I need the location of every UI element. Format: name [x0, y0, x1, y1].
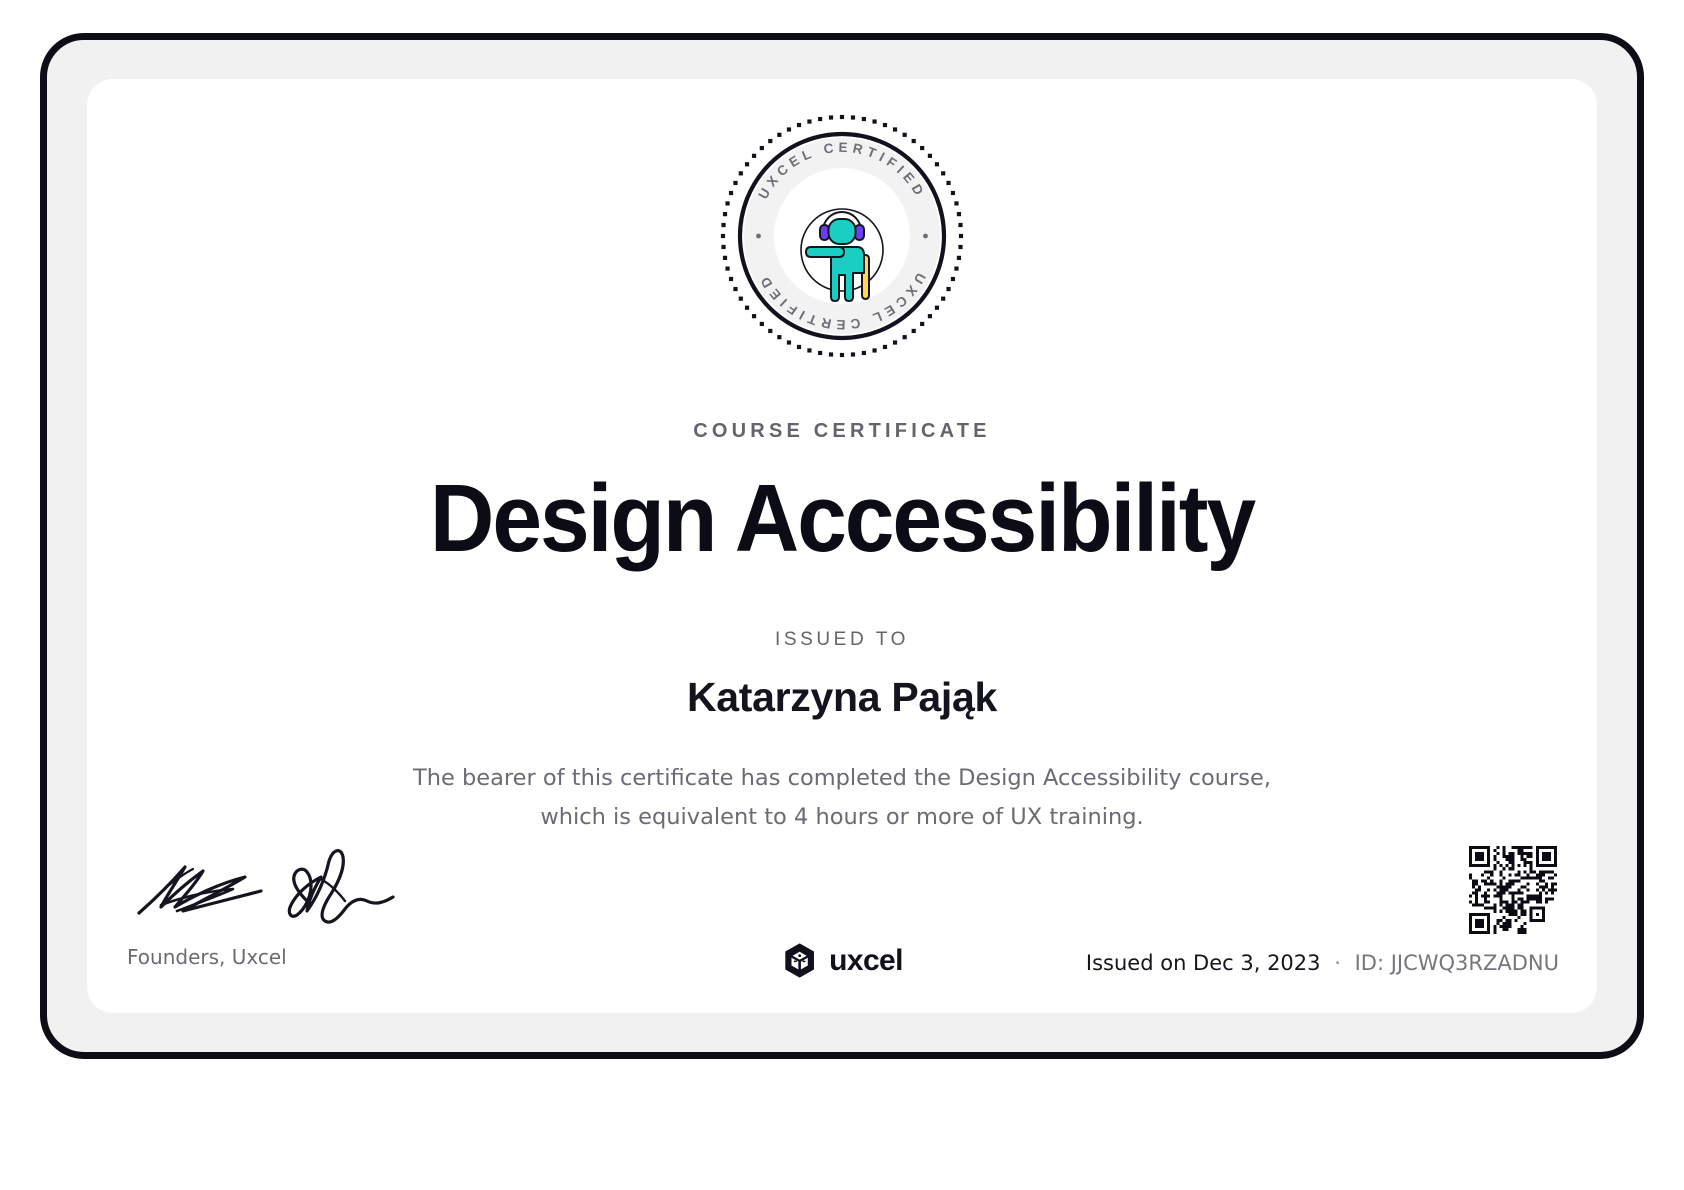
- issued-on-date: Issued on Dec 3, 2023: [1086, 951, 1321, 975]
- description-line-2: which is equivalent to 4 hours or more o…: [87, 798, 1597, 837]
- description-line-1: The bearer of this certificate has compl…: [87, 759, 1597, 798]
- course-title: Design Accessibility: [140, 469, 1544, 570]
- uxcel-certified-seal: UXCEL CERTIFIED UXCEL CERTIFIED: [711, 105, 973, 367]
- founders-signature-image: [125, 839, 425, 931]
- certificate-id: ID: JJCWQ3RZADNU: [1355, 951, 1559, 975]
- qr-code-image: [1469, 846, 1557, 934]
- seal-bullet-left: [756, 234, 761, 239]
- uxcel-brand: uxcel: [781, 942, 903, 979]
- certificate-card: UXCEL CERTIFIED UXCEL CERTIFIED: [87, 79, 1597, 1013]
- signature-label: Founders, Uxcel: [127, 945, 455, 969]
- uxcel-wordmark: uxcel: [829, 944, 903, 978]
- signature-block: Founders, Uxcel: [125, 839, 455, 969]
- seal-bullet-right: [923, 234, 928, 239]
- issued-to-label: ISSUED TO: [87, 629, 1597, 651]
- meta-separator: ·: [1327, 951, 1348, 975]
- certificate-description: The bearer of this certificate has compl…: [87, 759, 1597, 836]
- certificate-page: UXCEL CERTIFIED UXCEL CERTIFIED: [0, 0, 1684, 1190]
- seal-graphic: UXCEL CERTIFIED UXCEL CERTIFIED: [711, 105, 973, 367]
- verification-qr-code[interactable]: [1469, 846, 1557, 934]
- recipient-name: Katarzyna Pająk: [87, 674, 1597, 721]
- certificate-meta: Issued on Dec 3, 2023 · ID: JJCWQ3RZADNU: [1086, 951, 1559, 975]
- course-certificate-kicker: COURSE CERTIFICATE: [87, 420, 1597, 443]
- uxcel-hexagon-cube-logo-icon: [781, 942, 818, 979]
